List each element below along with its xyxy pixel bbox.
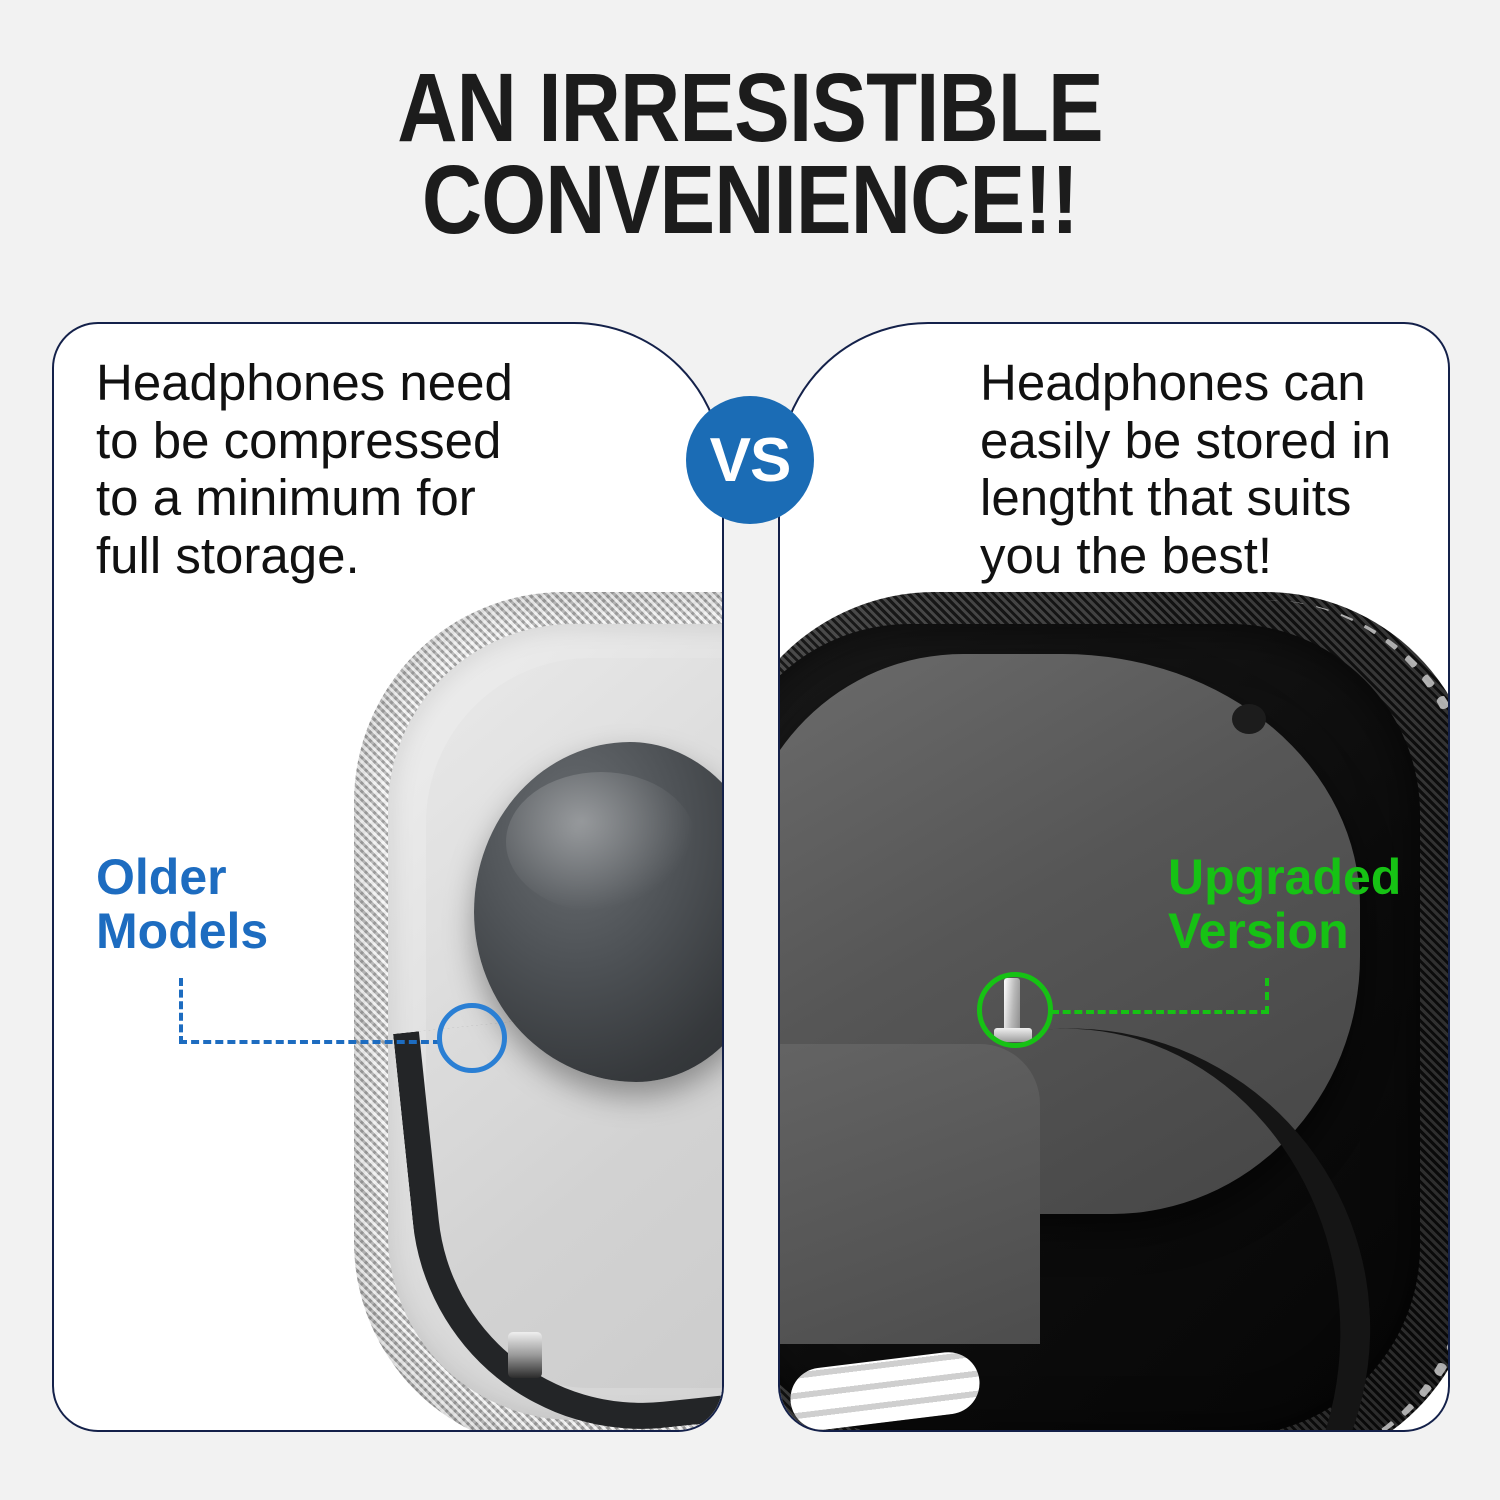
cable-connector-icon	[508, 1332, 542, 1378]
callout-leader-vertical-left	[179, 978, 183, 1044]
callout-leader-vertical-right	[1265, 978, 1269, 1014]
highlight-circle-cable-connector	[437, 1003, 507, 1073]
zipper-teeth-icon	[1036, 600, 1448, 1430]
earcup-highlight-icon	[506, 772, 696, 912]
panel-right-caption: Headphones can easily be stored in lengt…	[980, 354, 1410, 585]
label-older-models: Older Models	[96, 850, 268, 958]
highlight-circle-zipper-pull	[977, 972, 1053, 1048]
page-title: AN IRRESISTIBLE CONVENIENCE!!	[105, 62, 1395, 246]
vs-badge: VS	[686, 396, 814, 524]
callout-leader-horizontal-left	[179, 1040, 441, 1044]
callout-leader-horizontal-right	[1051, 1010, 1269, 1014]
label-upgraded-version: Upgraded Version	[1168, 850, 1401, 958]
panel-left-caption: Headphones need to be compressed to a mi…	[96, 354, 566, 585]
